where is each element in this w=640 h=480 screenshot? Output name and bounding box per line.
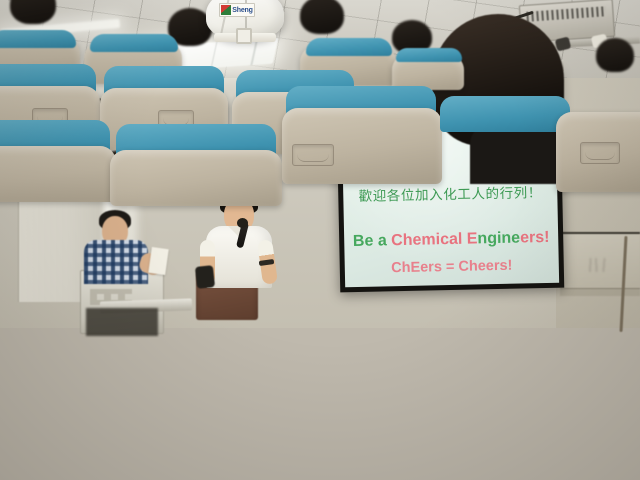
seat-cushion [440,96,570,132]
projector-vent-icon [526,6,607,22]
tagline-segment: E [467,230,478,247]
seat-cushion [90,34,178,52]
auditorium-seat [282,108,442,184]
auditorium-seat [110,150,282,206]
auditorium-seat [556,112,640,192]
microphone-head-icon [237,218,248,228]
paper-sheet [148,247,168,275]
cap-brand-label: Sheng [219,3,255,17]
whiteboard-writing [588,258,622,272]
lecture-hall-photo: 台灣化學工程學會 Taiwan Inst. of Chem. Engineers… [0,0,640,480]
auditorium-seat [0,146,116,202]
belt-pouch [195,265,215,289]
audience-dark-top [470,124,566,184]
seat-cushion [0,30,76,48]
tagline-segment: ngine [477,230,520,248]
podium-base [86,308,158,336]
seat-handle[interactable] [580,142,620,164]
seat-cushion [396,48,462,62]
cap-brand-text: Sheng [231,7,254,14]
tagline-segment: Chemical [391,231,462,249]
seat-handle[interactable] [292,144,334,166]
audience-head [300,0,344,34]
tagline-segment: ers! [520,229,550,247]
cap-logo-icon [221,5,231,15]
tagline-segment: Be a [353,232,392,250]
audience-white-cap: Sheng [206,0,284,40]
audience-head [596,38,634,72]
podium-presenter-plaid-shirt [84,240,148,284]
cap-buckle [236,28,252,44]
whiteboard-marker-tray [560,288,640,296]
seat-cushion [306,38,392,56]
